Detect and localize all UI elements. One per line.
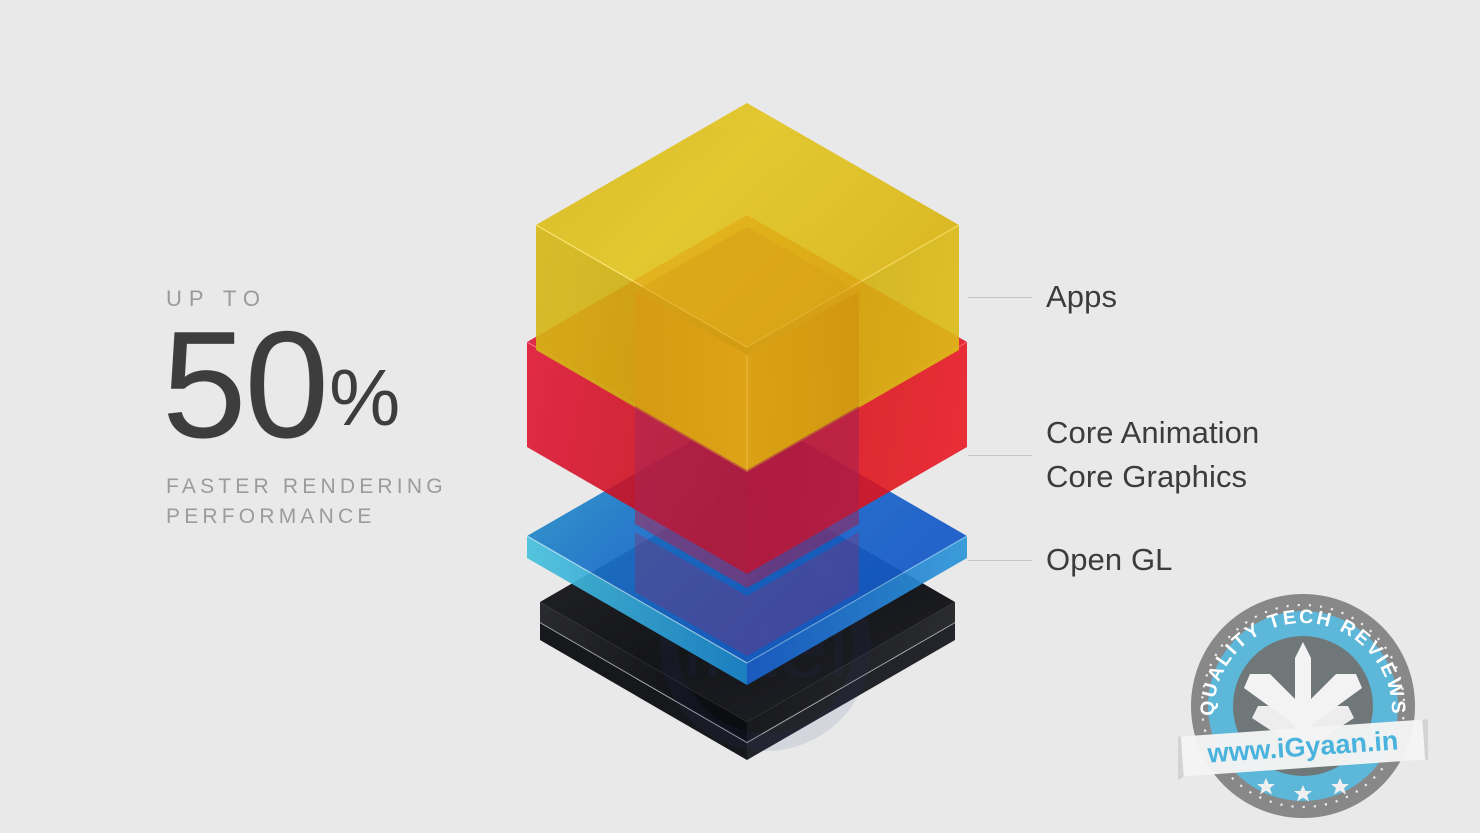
- leader-line-core-animation: [968, 455, 1032, 456]
- slide-canvas: UP TO 50 % FASTER RENDERING PERFORMANCE: [0, 0, 1480, 832]
- stat-percent-sign: %: [329, 358, 400, 438]
- igyaan-watermark-badge: QUALITY TECH REVIEWS: [1178, 578, 1428, 828]
- stack-overlap-tint: [500, 96, 1000, 776]
- leader-line-apps: [968, 297, 1032, 298]
- layer-stack-diagram: intel: [500, 96, 1000, 776]
- stat-subtitle: FASTER RENDERING PERFORMANCE: [166, 472, 506, 532]
- callout-label-open-gl: Open GL: [1046, 538, 1173, 582]
- callout-label-apps: Apps: [1046, 275, 1117, 319]
- stat-number: 50: [162, 316, 327, 456]
- stat-block: UP TO 50 % FASTER RENDERING PERFORMANCE: [166, 288, 506, 531]
- callout-apps: Apps: [968, 275, 1117, 319]
- leader-line-open-gl: [968, 560, 1032, 561]
- stat-value-row: 50 %: [162, 316, 506, 456]
- callout-core-animation: Core Animation Core Graphics: [968, 411, 1259, 499]
- callout-open-gl: Open GL: [968, 538, 1173, 582]
- callout-label-core-animation: Core Animation Core Graphics: [1046, 411, 1259, 499]
